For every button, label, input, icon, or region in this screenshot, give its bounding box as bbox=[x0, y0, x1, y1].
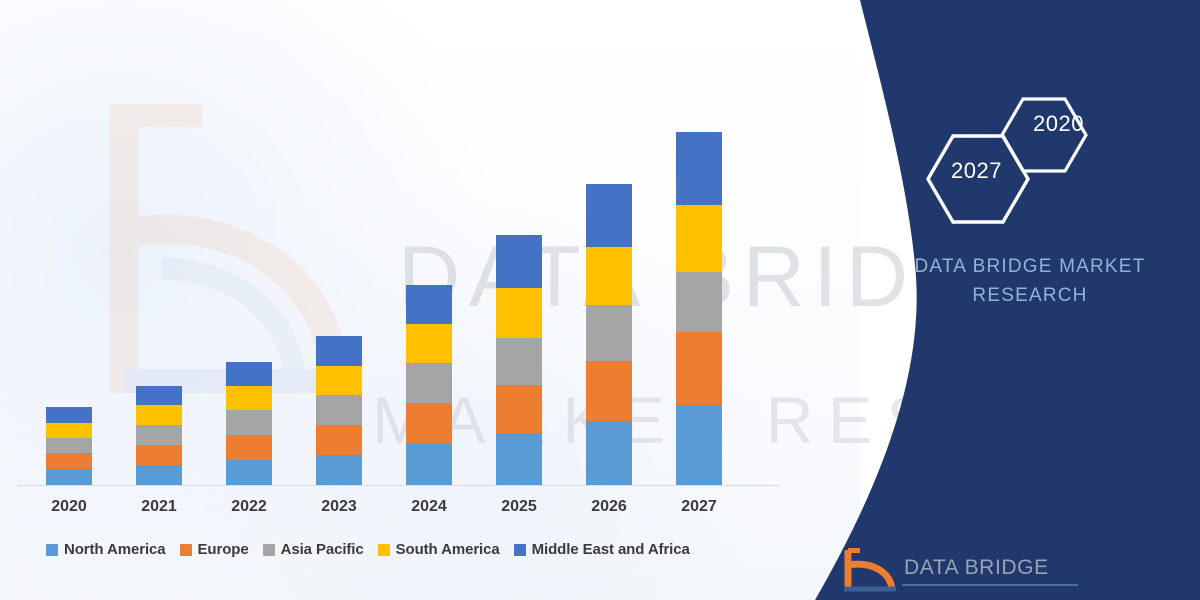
bar-segment[interactable] bbox=[676, 205, 722, 272]
legend-label: Europe bbox=[198, 541, 249, 558]
x-tick-label-2024: 2024 bbox=[384, 498, 474, 516]
brand-text: DATA BRIDGE MARKET RESEARCH bbox=[880, 252, 1180, 311]
bar-segment[interactable] bbox=[676, 272, 722, 332]
bar-segment[interactable] bbox=[316, 425, 362, 455]
bar-segment[interactable] bbox=[586, 421, 632, 485]
plot-area: 20202021202220232024202520262027 bbox=[0, 0, 800, 600]
bar-segment[interactable] bbox=[226, 410, 272, 435]
bar-2027[interactable] bbox=[676, 132, 722, 485]
bar-segment[interactable] bbox=[496, 338, 542, 385]
footer-logo-text: DATA BRIDGE bbox=[904, 556, 1049, 580]
bar-segment[interactable] bbox=[406, 324, 452, 363]
bar-segment[interactable] bbox=[406, 443, 452, 485]
bar-segment[interactable] bbox=[406, 363, 452, 403]
bar-segment[interactable] bbox=[226, 435, 272, 460]
bar-2022[interactable] bbox=[226, 362, 272, 485]
legend-item[interactable]: Asia Pacific bbox=[263, 541, 364, 558]
legend-label: Asia Pacific bbox=[281, 541, 364, 558]
bar-segment[interactable] bbox=[46, 469, 92, 485]
bar-2020[interactable] bbox=[46, 407, 92, 485]
legend-swatch-icon bbox=[180, 544, 192, 556]
bar-segment[interactable] bbox=[316, 455, 362, 485]
legend-swatch-icon bbox=[263, 544, 275, 556]
bar-segment[interactable] bbox=[586, 247, 632, 305]
bar-segment[interactable] bbox=[46, 438, 92, 453]
hexagon-2027-label: 2027 bbox=[951, 158, 1002, 184]
bar-segment[interactable] bbox=[496, 288, 542, 338]
bar-segment[interactable] bbox=[406, 403, 452, 443]
legend-item[interactable]: Europe bbox=[180, 541, 249, 558]
bar-segment[interactable] bbox=[676, 132, 722, 205]
hexagon-group: 2020 2027 bbox=[915, 95, 1115, 235]
legend-swatch-icon bbox=[378, 544, 390, 556]
footer-logo-underline bbox=[902, 584, 1078, 586]
x-tick-label-2026: 2026 bbox=[564, 498, 654, 516]
brand-line-1: DATA BRIDGE MARKET bbox=[915, 256, 1146, 277]
x-axis-tick-labels: 20202021202220232024202520262027 bbox=[0, 498, 800, 528]
bar-segment[interactable] bbox=[316, 366, 362, 395]
legend-label: North America bbox=[64, 541, 166, 558]
hexagon-shapes bbox=[915, 95, 1115, 235]
x-tick-label-2022: 2022 bbox=[204, 498, 294, 516]
bar-segment[interactable] bbox=[136, 425, 182, 445]
bar-2023[interactable] bbox=[316, 336, 362, 485]
bar-segment[interactable] bbox=[676, 405, 722, 485]
x-tick-label-2023: 2023 bbox=[294, 498, 384, 516]
bar-segment[interactable] bbox=[496, 433, 542, 485]
bar-segment[interactable] bbox=[676, 332, 722, 405]
bar-segment[interactable] bbox=[46, 407, 92, 423]
legend-item[interactable]: South America bbox=[378, 541, 500, 558]
bar-segment[interactable] bbox=[586, 361, 632, 421]
x-tick-label-2027: 2027 bbox=[654, 498, 744, 516]
legend-item[interactable]: Middle East and Africa bbox=[514, 541, 690, 558]
legend-swatch-icon bbox=[514, 544, 526, 556]
x-tick-label-2020: 2020 bbox=[24, 498, 114, 516]
brand-line-2: RESEARCH bbox=[880, 281, 1180, 310]
legend-item[interactable]: North America bbox=[46, 541, 166, 558]
bar-segment[interactable] bbox=[226, 460, 272, 485]
bar-segment[interactable] bbox=[226, 386, 272, 410]
legend-label: Middle East and Africa bbox=[532, 541, 690, 558]
bar-2021[interactable] bbox=[136, 386, 182, 485]
legend-swatch-icon bbox=[46, 544, 58, 556]
chart-legend: North AmericaEuropeAsia PacificSouth Ame… bbox=[46, 541, 690, 558]
bar-segment[interactable] bbox=[136, 386, 182, 405]
bar-2026[interactable] bbox=[586, 184, 632, 485]
bar-segment[interactable] bbox=[586, 184, 632, 247]
bar-2024[interactable] bbox=[406, 285, 452, 485]
bar-segment[interactable] bbox=[136, 445, 182, 465]
chart-canvas: DATA BRIDGE MARKET RESEARCH 2020 2027 DA… bbox=[0, 0, 1200, 600]
hexagon-2020-label: 2020 bbox=[1033, 111, 1084, 137]
x-tick-label-2021: 2021 bbox=[114, 498, 204, 516]
x-tick-label-2025: 2025 bbox=[474, 498, 564, 516]
footer-logo: DATA BRIDGE bbox=[838, 548, 1088, 600]
legend-label: South America bbox=[396, 541, 500, 558]
databridge-mark-icon bbox=[838, 548, 900, 594]
bar-segment[interactable] bbox=[496, 385, 542, 433]
bar-2025[interactable] bbox=[496, 235, 542, 485]
bar-segment[interactable] bbox=[496, 235, 542, 288]
bar-segment[interactable] bbox=[226, 362, 272, 386]
bar-segment[interactable] bbox=[316, 395, 362, 425]
bar-segment[interactable] bbox=[46, 453, 92, 469]
bar-segment[interactable] bbox=[316, 336, 362, 366]
bar-segment[interactable] bbox=[406, 285, 452, 324]
bar-segment[interactable] bbox=[586, 305, 632, 361]
x-axis-line bbox=[18, 485, 780, 486]
bar-segment[interactable] bbox=[46, 423, 92, 438]
bar-segment[interactable] bbox=[136, 405, 182, 425]
bar-segment[interactable] bbox=[136, 465, 182, 485]
